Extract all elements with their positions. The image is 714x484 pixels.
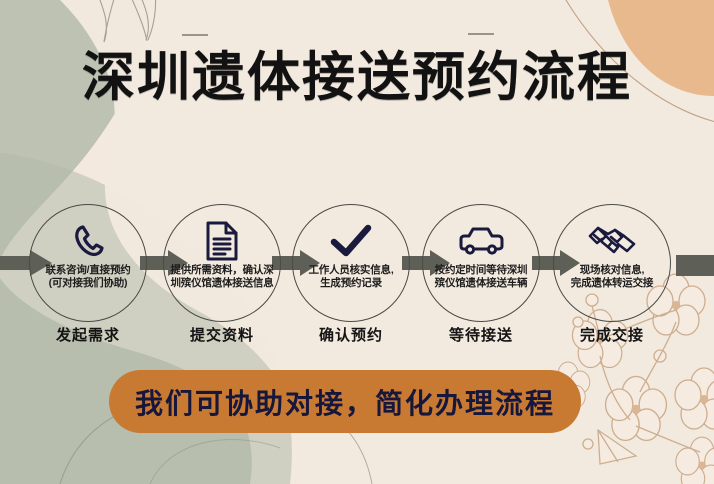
step-desc-line-2a: 提供所需资料，确认深 (164, 264, 280, 277)
step-caption-1: 发起需求 (19, 324, 157, 345)
step-caption-2: 提交资料 (153, 324, 291, 345)
check-icon (329, 220, 373, 262)
step-desc-line-4b: 殡仪馆遗体接送车辆 (423, 277, 539, 290)
document-icon (205, 220, 239, 262)
step-circle-4: 按约定时间等待深圳 殡仪馆遗体接送车辆 (422, 204, 540, 322)
step-circle-3: 工作人员核实信息, 生成预约记录 (292, 204, 410, 322)
step-description-1: 联系咨询/直接预约 (可对接我们协助) (30, 264, 146, 290)
infographic-canvas: 深圳遗体接送预约流程 联系咨询/直接预约 (可对接我们协助) (0, 0, 714, 484)
flow-step-3[interactable]: 工作人员核实信息, 生成预约记录 确认预约 (292, 204, 416, 354)
step-desc-line-5b: 完成遗体转运交接 (554, 277, 670, 290)
cta-banner-text: 我们可协助对接，简化办理流程 (135, 382, 555, 422)
step-description-4: 按约定时间等待深圳 殡仪馆遗体接送车辆 (423, 264, 539, 290)
flow-step-4[interactable]: 按约定时间等待深圳 殡仪馆遗体接送车辆 等待接送 (422, 204, 546, 354)
step-caption-4: 等待接送 (412, 324, 550, 345)
flow-step-5[interactable]: 现场核对信息, 完成遗体转运交接 完成交接 (553, 204, 677, 354)
step-description-3: 工作人员核实信息, 生成预约记录 (293, 264, 409, 290)
step-description-2: 提供所需资料，确认深 圳殡仪馆遗体接送信息 (164, 264, 280, 290)
cta-banner[interactable]: 我们可协助对接，简化办理流程 (109, 370, 581, 433)
step-desc-line-5a: 现场核对信息, (554, 264, 670, 277)
step-desc-line-2b: 圳殡仪馆遗体接送信息 (164, 277, 280, 290)
step-caption-5: 完成交接 (543, 324, 681, 345)
car-icon (457, 220, 505, 262)
step-caption-3: 确认预约 (282, 324, 420, 345)
handshake-icon (588, 220, 636, 262)
step-circle-5: 现场核对信息, 完成遗体转运交接 (553, 204, 671, 322)
flow-step-1[interactable]: 联系咨询/直接预约 (可对接我们协助) 发起需求 (29, 204, 153, 354)
page-title: 深圳遗体接送预约流程 (0, 46, 714, 108)
phone-icon (70, 220, 106, 262)
step-desc-line-3b: 生成预约记录 (293, 277, 409, 290)
process-flow: 联系咨询/直接预约 (可对接我们协助) 发起需求 提供所需资料，确认深 圳 (0, 204, 714, 354)
step-circle-1: 联系咨询/直接预约 (可对接我们协助) (29, 204, 147, 322)
step-desc-line-3a: 工作人员核实信息, (293, 264, 409, 277)
step-desc-line-1b: (可对接我们协助) (30, 277, 146, 290)
step-desc-line-1a: 联系咨询/直接预约 (30, 264, 146, 277)
step-desc-line-4a: 按约定时间等待深圳 (423, 264, 539, 277)
step-circle-2: 提供所需资料，确认深 圳殡仪馆遗体接送信息 (163, 204, 281, 322)
flow-step-2[interactable]: 提供所需资料，确认深 圳殡仪馆遗体接送信息 提交资料 (163, 204, 287, 354)
step-description-5: 现场核对信息, 完成遗体转运交接 (554, 264, 670, 290)
